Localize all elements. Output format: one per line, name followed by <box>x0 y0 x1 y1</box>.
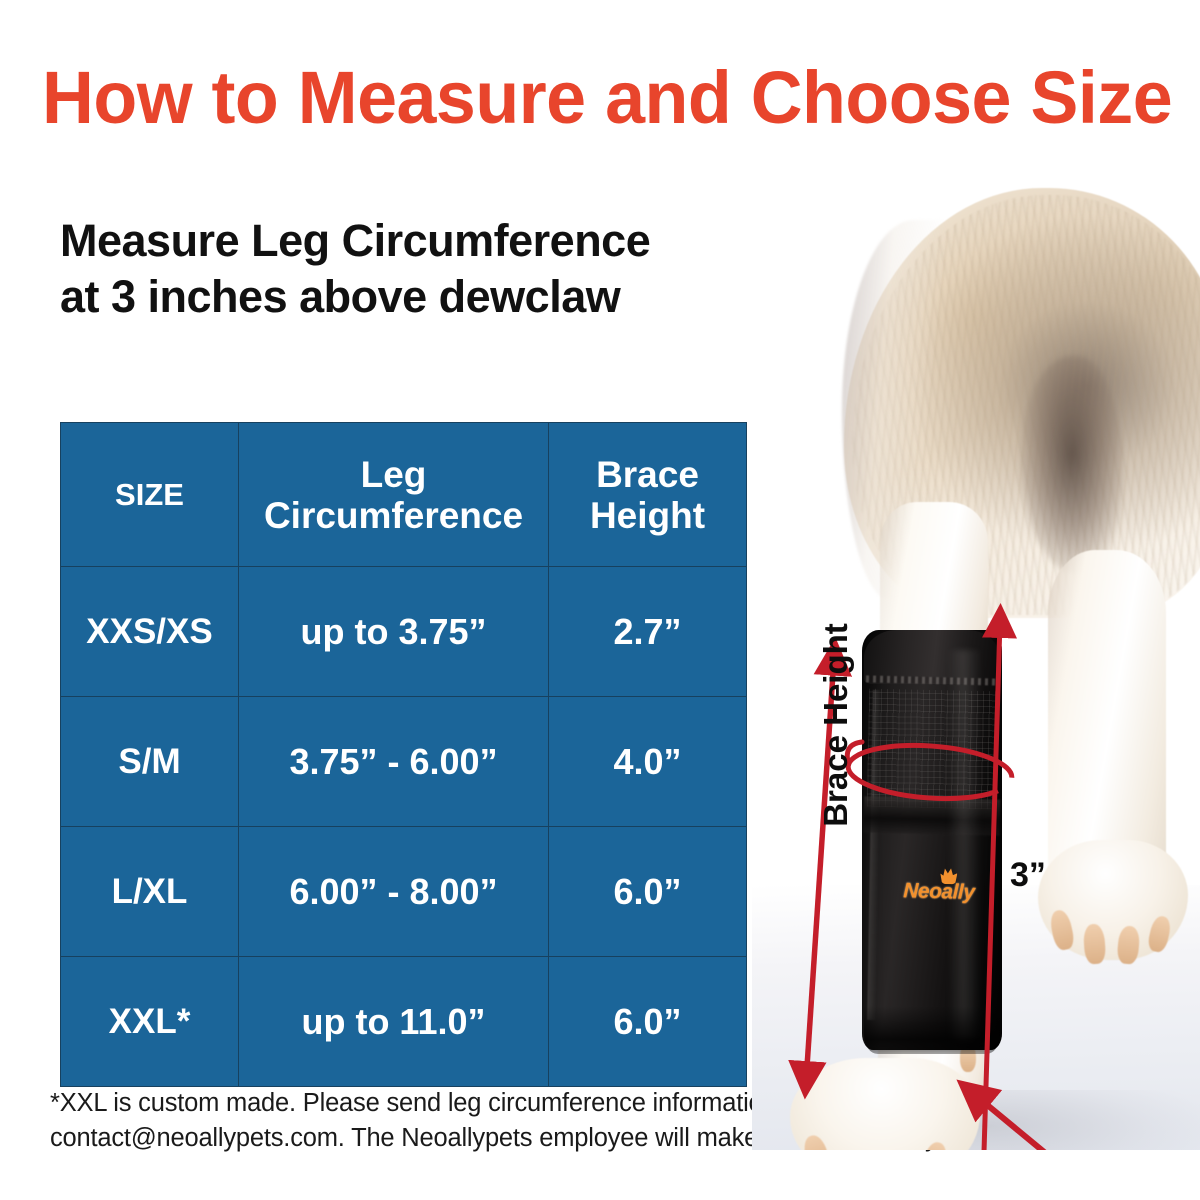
table-row: L/XL 6.00” - 8.00” 6.0” <box>61 827 747 957</box>
cell-size: L/XL <box>61 827 239 957</box>
table-header: SIZE Leg Circumference Brace Height <box>61 423 747 567</box>
three-inch-label: 3” <box>1010 856 1046 895</box>
brace-highlight <box>948 650 982 1040</box>
neoally-logo-text: Neoally <box>884 879 995 906</box>
table-row: XXL* up to 11.0” 6.0” <box>61 957 747 1087</box>
cell-leg-circumference: 6.00” - 8.00” <box>239 827 549 957</box>
column-header-brace-height-line2: Height <box>549 495 746 536</box>
cell-leg-circumference: up to 3.75” <box>239 567 549 697</box>
neoally-logo: Neoally <box>883 865 994 912</box>
size-chart-table: SIZE Leg Circumference Brace Height XXS/… <box>60 422 747 1087</box>
cell-size: XXL* <box>61 957 239 1087</box>
sizing-guide-page: How to Measure and Choose Size Measure L… <box>0 0 1200 1200</box>
column-header-leg-circumference-line2: Circumference <box>239 495 548 536</box>
cell-brace-height: 2.7” <box>549 567 747 697</box>
brace-bottom-shadow <box>864 1006 1000 1054</box>
table-row: S/M 3.75” - 6.00” 4.0” <box>61 697 747 827</box>
cell-leg-circumference: up to 11.0” <box>239 957 549 1087</box>
page-title: How to Measure and Choose Size <box>42 58 1148 138</box>
subtitle-line-2: at 3 inches above dewclaw <box>60 269 820 325</box>
table-row: XXS/XS up to 3.75” 2.7” <box>61 567 747 697</box>
cell-brace-height: 6.0” <box>549 957 747 1087</box>
column-header-brace-height: Brace Height <box>549 423 747 567</box>
column-header-brace-height-line1: Brace <box>549 454 746 495</box>
table-header-row: SIZE Leg Circumference Brace Height <box>61 423 747 567</box>
cell-brace-height: 4.0” <box>549 697 747 827</box>
subtitle-line-1: Measure Leg Circumference <box>60 213 820 269</box>
column-header-size: SIZE <box>61 423 239 567</box>
cell-size: S/M <box>61 697 239 827</box>
instruction-subtitle: Measure Leg Circumference at 3 inches ab… <box>60 213 820 325</box>
cell-brace-height: 6.0” <box>549 827 747 957</box>
brace-height-label: Brace Height <box>817 595 855 855</box>
column-header-leg-circumference-line1: Leg <box>239 454 548 495</box>
table-body: XXS/XS up to 3.75” 2.7” S/M 3.75” - 6.00… <box>61 567 747 1087</box>
cell-leg-circumference: 3.75” - 6.00” <box>239 697 549 827</box>
dog-leg-brace-photo: Neoally Brace Height 3” dew <box>752 150 1200 1150</box>
column-header-leg-circumference: Leg Circumference <box>239 423 549 567</box>
cell-size: XXS/XS <box>61 567 239 697</box>
